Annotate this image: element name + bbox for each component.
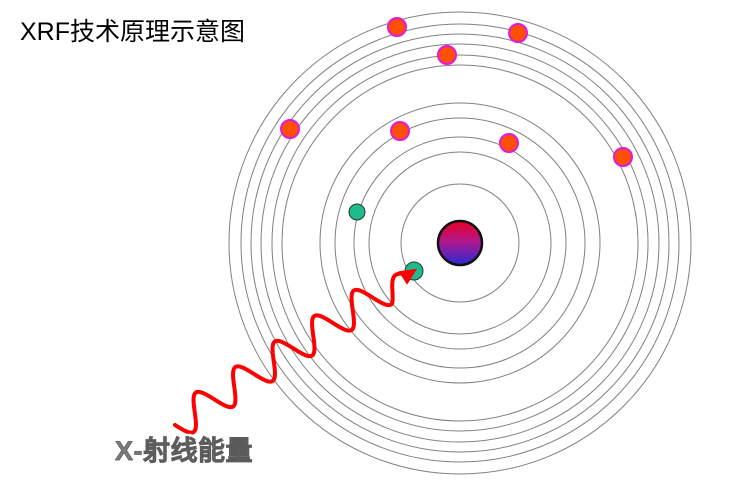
diagram-title: XRF技术原理示意图 [20, 18, 245, 46]
xray-beam-group [175, 269, 417, 433]
electron-g [509, 24, 527, 42]
electron-f [388, 18, 406, 36]
xrf-principle-diagram: XRF技术原理示意图 X-射线能量 X-射线能量 [0, 0, 756, 482]
figure-canvas: XRF技术原理示意图 X-射线能量 X-射线能量 [0, 0, 756, 482]
electron-e [438, 46, 456, 64]
atom-nucleus [438, 221, 482, 265]
electron-shell2-teal [349, 204, 365, 220]
electron-a [391, 122, 409, 140]
electron-d [614, 148, 632, 166]
beam-label: X-射线能量 [115, 435, 253, 466]
electron-b [500, 134, 518, 152]
electron-c [281, 120, 299, 138]
